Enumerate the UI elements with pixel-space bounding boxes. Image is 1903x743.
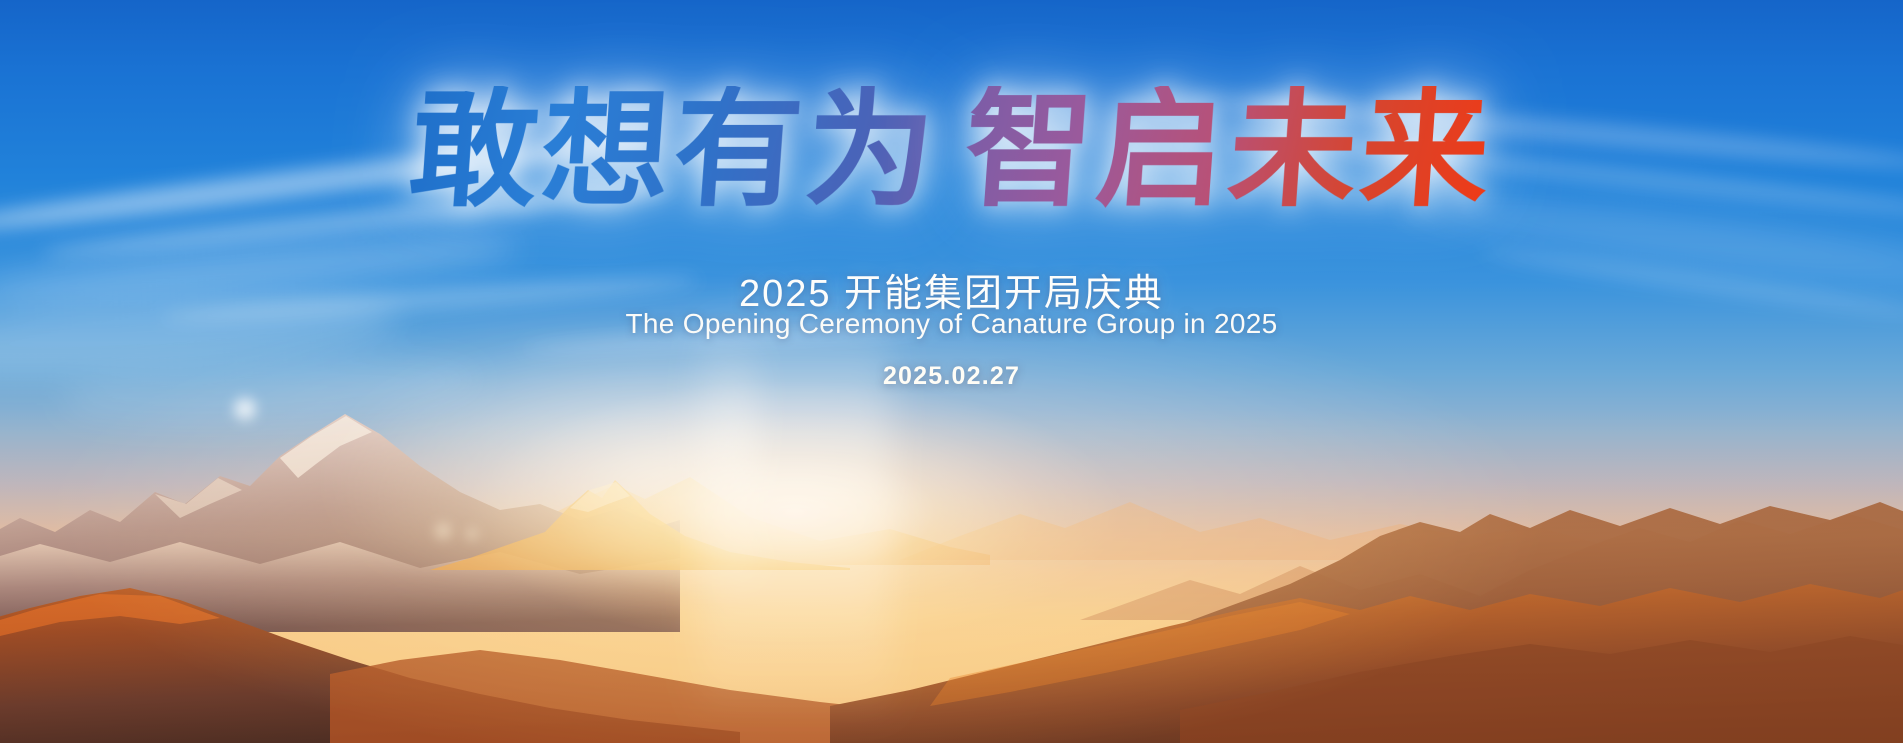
event-banner: 敢想有为智启未来 2025 开能集团开局庆典 The Opening Cerem… (0, 0, 1903, 743)
banner-headline: 敢想有为智启未来 (0, 86, 1903, 214)
headline-segment-red: 智启未来 (960, 86, 1497, 214)
lens-flare-b (430, 518, 456, 544)
subtitle-english: The Opening Ceremony of Canature Group i… (0, 308, 1903, 340)
lens-flare-c (462, 524, 482, 544)
lens-flare-a (228, 392, 262, 426)
headline-segment-blue: 敢想有为 (406, 86, 943, 214)
event-date: 2025.02.27 (0, 362, 1903, 391)
